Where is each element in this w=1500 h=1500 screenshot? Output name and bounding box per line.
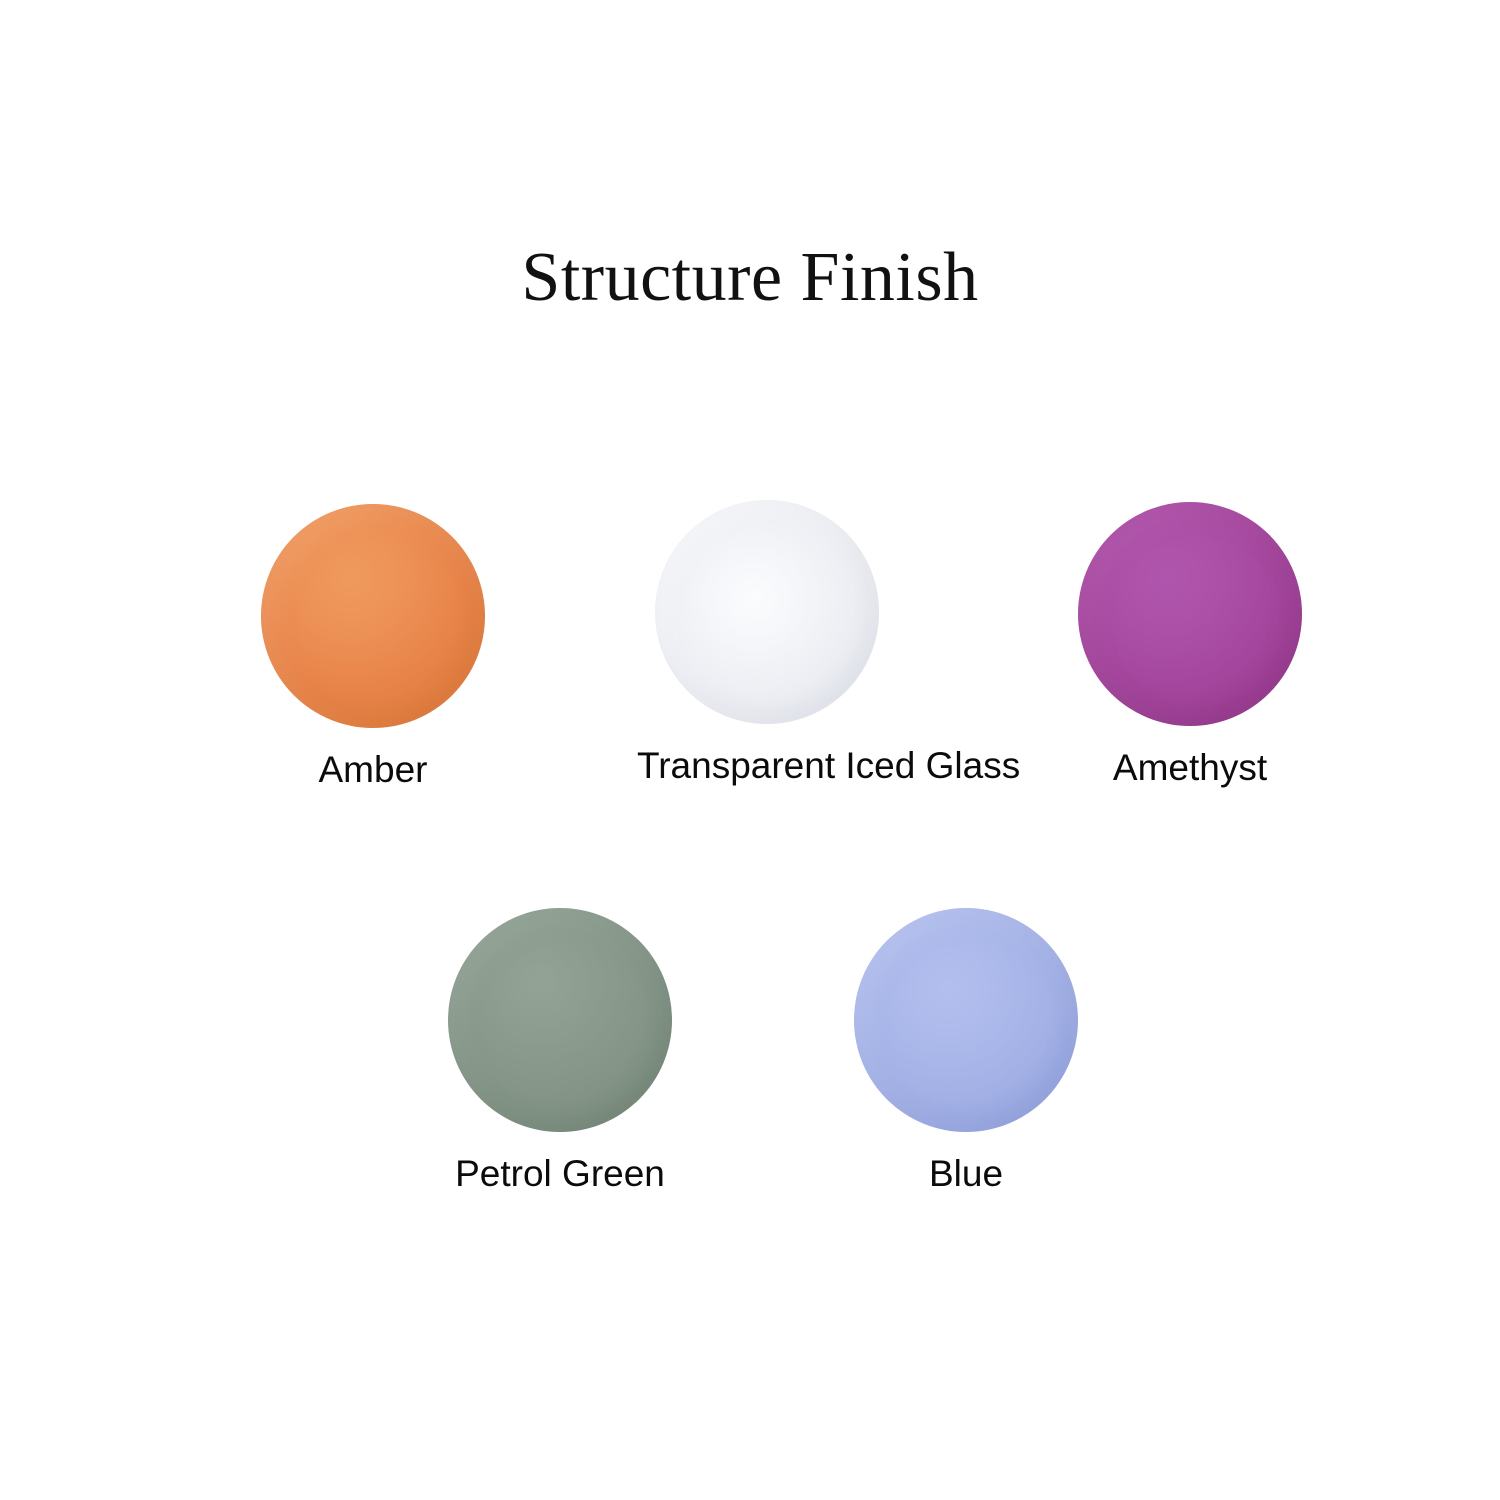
- color-disc-petrol-green[interactable]: [448, 908, 672, 1132]
- swatch-label-petrol-green: Petrol Green: [430, 1154, 690, 1195]
- color-disc-blue[interactable]: [854, 908, 1078, 1132]
- swatch-label-transparent-iced-glass: Transparent Iced Glass: [637, 746, 897, 787]
- swatch-amethyst[interactable]: Amethyst: [1060, 502, 1320, 789]
- color-disc-amethyst[interactable]: [1078, 502, 1302, 726]
- color-disc-amber[interactable]: [261, 504, 485, 728]
- swatch-label-amethyst: Amethyst: [1060, 748, 1320, 789]
- swatch-label-amber: Amber: [243, 750, 503, 791]
- color-disc-transparent-iced-glass[interactable]: [655, 500, 879, 724]
- swatch-petrol-green[interactable]: Petrol Green: [430, 908, 690, 1195]
- swatch-grid: Amber Transparent Iced Glass Amethyst Pe…: [0, 0, 1500, 1500]
- color-swatch-page: Structure Finish Amber Transparent Iced …: [0, 0, 1500, 1500]
- swatch-blue[interactable]: Blue: [836, 908, 1096, 1195]
- swatch-transparent-iced-glass[interactable]: Transparent Iced Glass: [637, 500, 897, 787]
- swatch-amber[interactable]: Amber: [243, 504, 503, 791]
- swatch-label-blue: Blue: [836, 1154, 1096, 1195]
